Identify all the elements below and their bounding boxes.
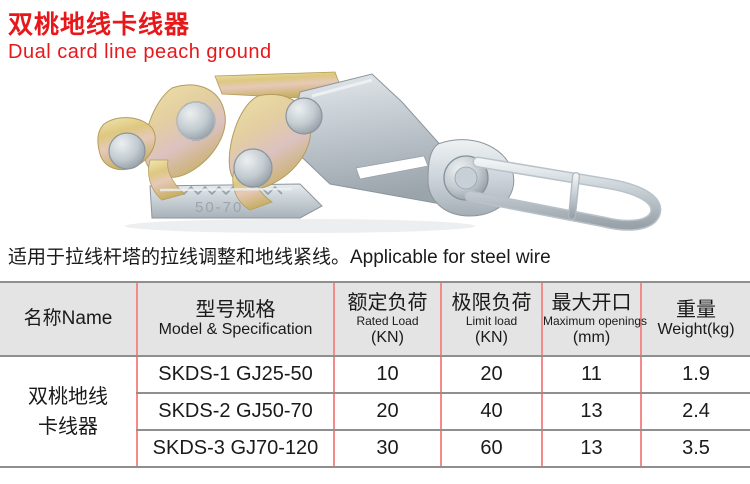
- header-cell-max-opening: 最大开口 Maximum openings (mm): [542, 282, 641, 356]
- clevis-pin-center: [455, 167, 477, 189]
- cell-max-opening: 11: [542, 356, 641, 393]
- specification-table: 名称Name 型号规格 Model & Specification 额定负荷 R…: [0, 281, 750, 468]
- header-cell-limit-load: 极限负荷 Limit load (KN): [441, 282, 542, 356]
- header-cell-name: 名称Name: [0, 282, 137, 356]
- header-model-en: Model & Specification: [138, 321, 333, 339]
- cell-max-opening: 13: [542, 393, 641, 430]
- header-model-cn: 型号规格: [138, 299, 333, 321]
- product-name-line2: 卡线器: [0, 412, 136, 442]
- header-name-cn: 名称: [24, 308, 62, 329]
- cell-weight: 2.4: [641, 393, 750, 430]
- product-title-chinese: 双桃地线卡线器: [8, 10, 750, 40]
- product-photo: 50-70: [0, 66, 750, 238]
- cell-model: SKDS-1 GJ25-50: [137, 356, 334, 393]
- header-max-opening-en: Maximum openings: [543, 314, 640, 329]
- pivot-pin-3: [286, 98, 322, 134]
- header-rated-load-unit: (KN): [335, 329, 440, 347]
- product-name-line1: 双桃地线: [0, 382, 136, 412]
- cell-limit-load: 20: [441, 356, 542, 393]
- base-highlight: [160, 189, 292, 190]
- header-limit-load-en: Limit load: [442, 314, 541, 329]
- cell-rated-load: 10: [334, 356, 441, 393]
- cell-weight: 1.9: [641, 356, 750, 393]
- header-cell-model: 型号规格 Model & Specification: [137, 282, 334, 356]
- body-engraving: 50-70: [195, 199, 243, 216]
- page-title: 双桃地线卡线器 Dual card line peach ground: [0, 0, 750, 64]
- header-rated-load-cn: 额定负荷: [335, 292, 440, 314]
- table-header-row: 名称Name 型号规格 Model & Specification 额定负荷 R…: [0, 282, 750, 356]
- pivot-pin-4: [234, 149, 272, 187]
- cell-limit-load: 40: [441, 393, 542, 430]
- product-name-cell: 双桃地线 卡线器: [0, 356, 137, 467]
- header-rated-load-en: Rated Load: [335, 314, 440, 329]
- header-weight-en: Weight(kg): [642, 321, 750, 339]
- pivot-pin-2: [109, 133, 145, 169]
- header-max-opening-unit: (mm): [543, 329, 640, 347]
- product-title-english: Dual card line peach ground: [8, 40, 750, 64]
- cell-weight: 3.5: [641, 430, 750, 467]
- header-name-en: Name: [62, 308, 113, 329]
- photo-shadow: [125, 219, 475, 233]
- header-max-opening-cn: 最大开口: [543, 292, 640, 314]
- cell-rated-load: 30: [334, 430, 441, 467]
- cell-limit-load: 60: [441, 430, 542, 467]
- header-limit-load-cn: 极限负荷: [442, 292, 541, 314]
- cell-rated-load: 20: [334, 393, 441, 430]
- table-row: 双桃地线 卡线器 SKDS-1 GJ25-50 10 20 11 1.9: [0, 356, 750, 393]
- cell-model: SKDS-2 GJ50-70: [137, 393, 334, 430]
- cell-max-opening: 13: [542, 430, 641, 467]
- header-cell-rated-load: 额定负荷 Rated Load (KN): [334, 282, 441, 356]
- header-cell-weight: 重量 Weight(kg): [641, 282, 750, 356]
- header-limit-load-unit: (KN): [442, 329, 541, 347]
- cell-model: SKDS-3 GJ70-120: [137, 430, 334, 467]
- header-weight-cn: 重量: [642, 299, 750, 321]
- description-text: 适用于拉线杆塔的拉线调整和地线紧线。Applicable for steel w…: [0, 238, 750, 270]
